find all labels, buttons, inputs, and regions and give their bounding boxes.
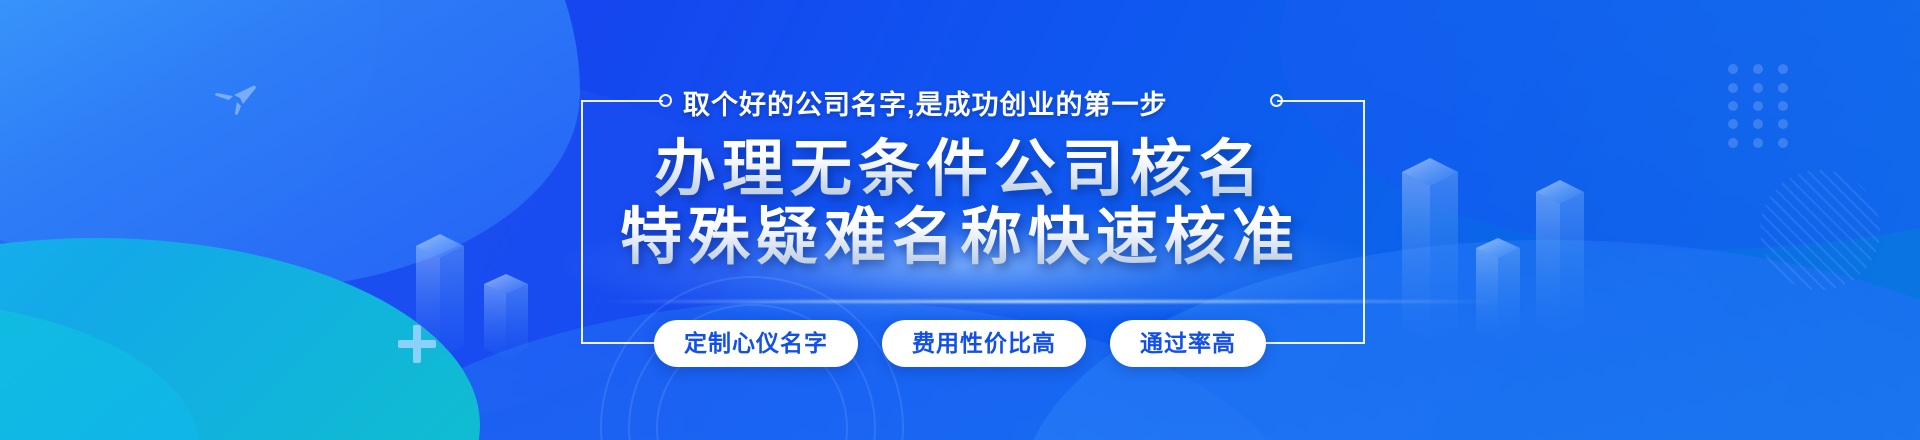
- frame-top-left-segment: [581, 100, 663, 102]
- feature-pill-cost-value[interactable]: 费用性价比高: [882, 320, 1086, 367]
- feature-pill-pass-rate[interactable]: 通过率高: [1110, 320, 1266, 367]
- frame-dot-top-left: [659, 94, 672, 107]
- banner-title-line-2: 特殊疑难名称快速核准: [0, 186, 1920, 276]
- feature-pill-group: 定制心仪名字 费用性价比高 通过率高: [0, 320, 1920, 367]
- feature-pill-custom-name[interactable]: 定制心仪名字: [654, 320, 858, 367]
- promo-banner: 取个好的公司名字,是成功创业的第一步 办理无条件公司核名 特殊疑难名称快速核准 …: [0, 0, 1920, 440]
- frame-top-right-segment: [1277, 100, 1365, 102]
- frame-dot-top-right: [1270, 94, 1283, 107]
- airplane-icon: [213, 82, 257, 116]
- banner-subtitle: 取个好的公司名字,是成功创业的第一步: [683, 83, 1168, 122]
